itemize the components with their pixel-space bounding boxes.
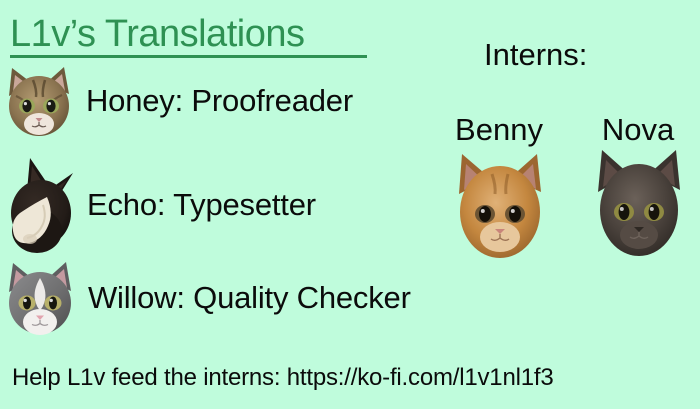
page-title: L1v’s Translations [10, 13, 304, 55]
translation-credits-card: L1v’s Translations [0, 0, 700, 409]
roster-label-willow: Willow: Quality Checker [88, 281, 411, 315]
intern-name-nova: Nova [583, 113, 693, 147]
cat-nova-photo [592, 148, 686, 260]
roster-label-honey: Honey: Proofreader [86, 84, 353, 118]
roster-row-willow: Willow: Quality Checker [0, 258, 411, 338]
cat-willow-photo [0, 258, 80, 338]
roster-label-echo: Echo: Typesetter [87, 188, 316, 222]
cat-echo-photo [3, 155, 75, 255]
interns-heading: Interns: [484, 38, 587, 72]
intern-name-benny: Benny [443, 113, 555, 147]
cat-honey-photo [0, 62, 78, 140]
support-link-text[interactable]: Help L1v feed the interns: https://ko-fi… [12, 364, 554, 392]
cat-benny-photo [452, 152, 548, 262]
roster-row-honey: Honey: Proofreader [0, 62, 353, 140]
page-title-underline [10, 55, 367, 58]
roster-row-echo: Echo: Typesetter [0, 155, 316, 255]
